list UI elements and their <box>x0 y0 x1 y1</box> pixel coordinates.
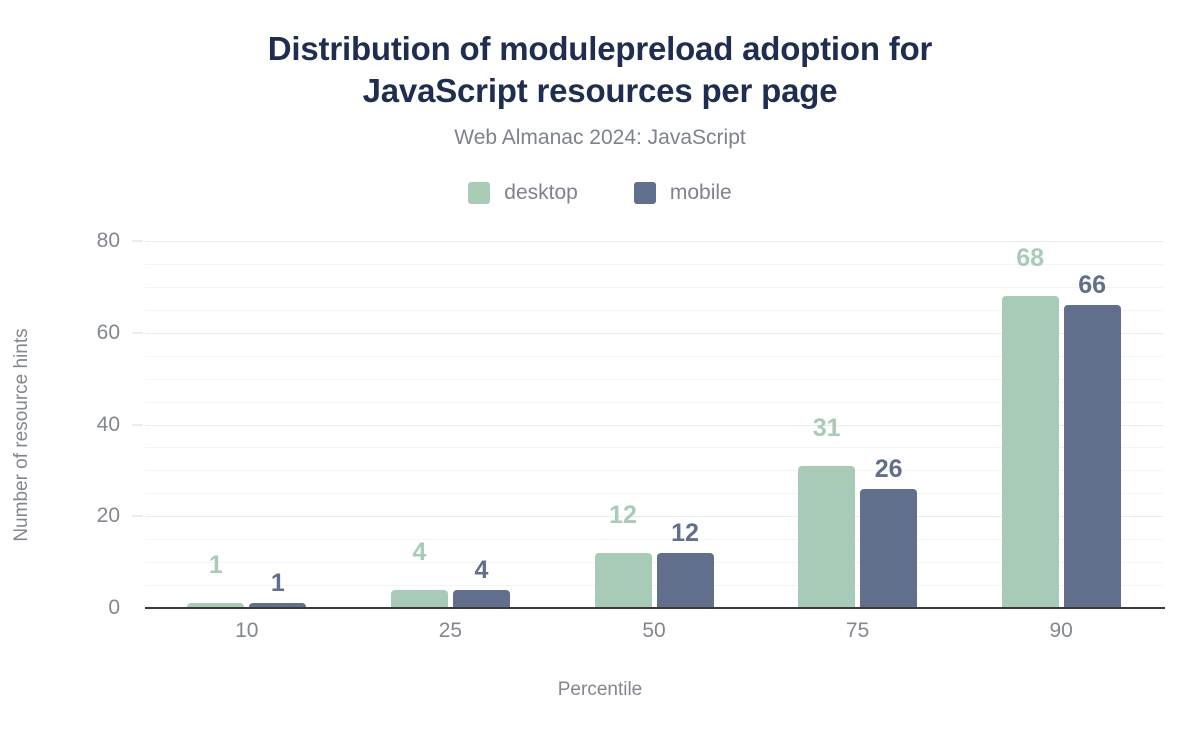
y-axis-title: Number of resource hints <box>11 245 33 625</box>
x-tick-label: 10 <box>157 619 337 643</box>
bar-value-label-desktop-75: 31 <box>782 414 872 443</box>
bar-mobile-75[interactable] <box>860 489 917 608</box>
bar-value-label-mobile-25: 4 <box>436 556 526 585</box>
gridline <box>145 241 1163 242</box>
bar-mobile-90[interactable] <box>1064 305 1121 608</box>
bar-desktop-25[interactable] <box>391 590 448 608</box>
x-tick-label: 75 <box>768 619 948 643</box>
bar-desktop-50[interactable] <box>595 553 652 608</box>
y-tick-label: 0 <box>28 596 120 620</box>
y-tick-label: 80 <box>28 229 120 253</box>
bar-value-label-mobile-75: 26 <box>844 455 934 484</box>
x-tick-label: 25 <box>360 619 540 643</box>
chart-canvas: 1144121231266866 020406080 Number of res… <box>0 0 1200 742</box>
gridline <box>145 287 1163 288</box>
bar-desktop-75[interactable] <box>798 466 855 608</box>
y-tick-label: 60 <box>28 321 120 345</box>
bar-value-label-desktop-90: 68 <box>985 244 1075 273</box>
y-tick-mark <box>132 332 143 333</box>
y-tick-mark <box>132 516 143 517</box>
bar-mobile-50[interactable] <box>657 553 714 608</box>
x-axis-line <box>145 607 1165 609</box>
x-tick-label: 50 <box>564 619 744 643</box>
y-tick-label: 20 <box>28 504 120 528</box>
bar-value-label-mobile-10: 1 <box>233 569 323 598</box>
x-axis-title: Percentile <box>0 679 1200 701</box>
bar-value-label-mobile-90: 66 <box>1047 271 1137 300</box>
y-tick-mark <box>132 424 143 425</box>
bar-value-label-mobile-50: 12 <box>640 519 730 548</box>
x-tick-label: 90 <box>971 619 1151 643</box>
y-tick-mark <box>132 241 143 242</box>
bar-mobile-25[interactable] <box>453 590 510 608</box>
plot-area: 1144121231266866 <box>145 241 1163 608</box>
y-tick-label: 40 <box>28 413 120 437</box>
bar-desktop-90[interactable] <box>1002 296 1059 608</box>
